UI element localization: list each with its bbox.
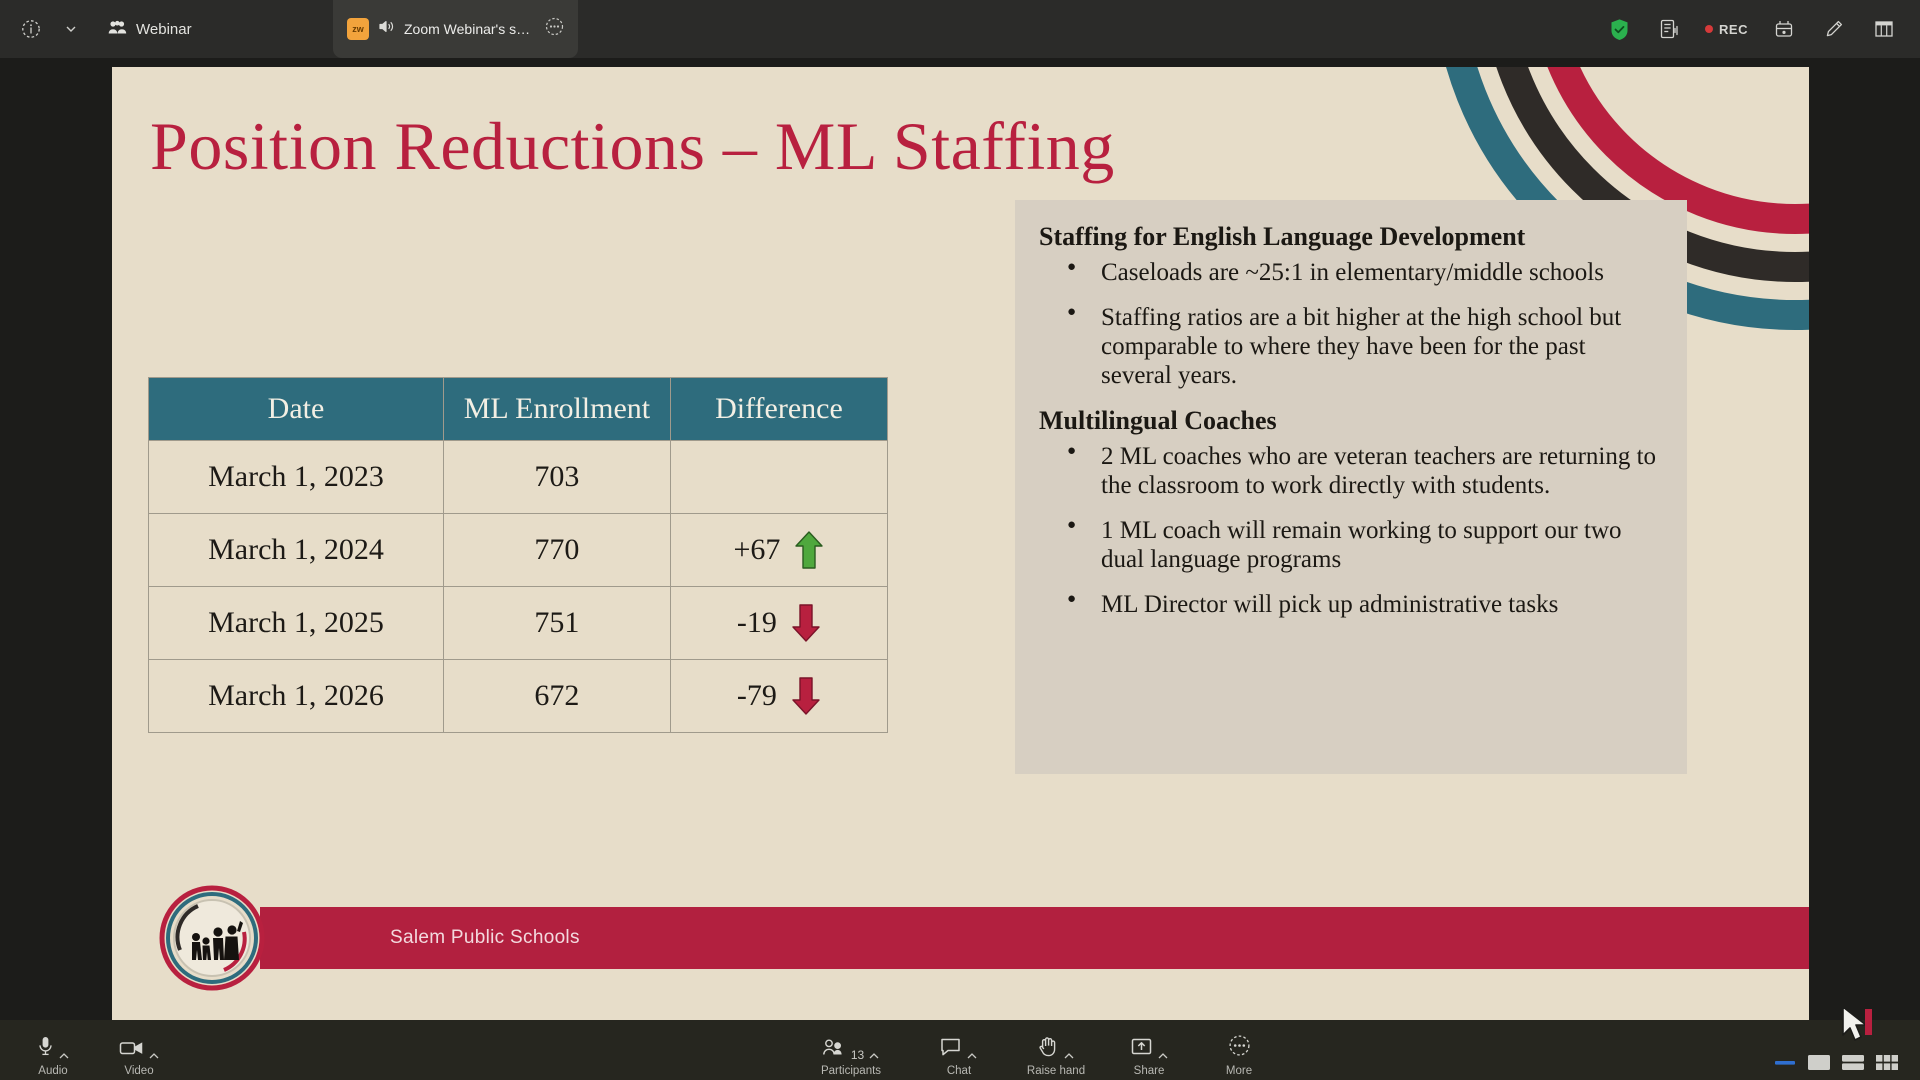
column-header-difference: Difference	[670, 378, 887, 441]
table-row: March 1, 2024 770 +67	[149, 514, 888, 587]
ellipsis-icon	[1228, 1034, 1251, 1062]
speaker-view-icon[interactable]	[1806, 1053, 1832, 1072]
shield-encryption-icon[interactable]	[1597, 9, 1641, 49]
table-row: March 1, 2025 751 -19	[149, 587, 888, 660]
microphone-icon	[37, 1035, 54, 1062]
minimize-view-icon[interactable]	[1772, 1053, 1798, 1072]
cell-difference	[670, 441, 887, 514]
zoom-app-icon: zw	[347, 18, 369, 40]
record-dot-icon	[1705, 25, 1713, 33]
screen-share-indicator[interactable]: zw Zoom Webinar's screen	[333, 0, 578, 58]
transcript-icon[interactable]	[1647, 9, 1691, 49]
zoom-top-bar: Webinar zw Zoom Webinar's screen	[0, 0, 1920, 58]
difference-value: -19	[737, 606, 777, 640]
participants-options-caret-icon[interactable]	[868, 1050, 880, 1062]
cell-enrollment: 770	[444, 514, 671, 587]
raise-hand-button[interactable]: Raise hand	[1002, 1036, 1110, 1077]
organization-name: Salem Public Schools	[390, 927, 580, 949]
audio-options-caret-icon[interactable]	[58, 1050, 70, 1062]
raise-hand-options-caret-icon[interactable]	[1063, 1050, 1075, 1062]
video-button[interactable]: Video	[96, 1036, 182, 1077]
participants-button[interactable]: 13 Participants	[796, 1036, 906, 1077]
side-by-side-view-icon[interactable]	[1840, 1053, 1866, 1072]
list-item: ML Director will pick up administrative …	[1039, 590, 1661, 619]
section-heading-staffing: Staffing for English Language Developmen…	[1039, 222, 1661, 252]
participants-count: 13	[851, 1048, 864, 1062]
presentation-slide: Position Reductions – ML Staffing Date M…	[112, 67, 1809, 1025]
presenter-cursor-icon	[1840, 1006, 1874, 1046]
cell-date: March 1, 2026	[149, 660, 444, 733]
cell-enrollment: 751	[444, 587, 671, 660]
webinar-label: Webinar	[136, 21, 192, 38]
section-heading-coaches: Multilingual Coaches	[1039, 406, 1661, 436]
participants-icon	[822, 1038, 845, 1062]
share-source-label: Zoom Webinar's screen	[404, 21, 536, 37]
arrow-down-icon	[791, 603, 821, 643]
cell-enrollment: 703	[444, 441, 671, 514]
coaches-bullet-list: 2 ML coaches who are veteran teachers ar…	[1039, 442, 1661, 619]
raised-hand-icon	[1038, 1035, 1059, 1062]
arrow-down-icon	[791, 676, 821, 716]
more-button[interactable]: More	[1196, 1036, 1282, 1077]
chat-label: Chat	[947, 1065, 971, 1077]
gallery-view-icon[interactable]	[1874, 1053, 1900, 1072]
cell-date: March 1, 2024	[149, 514, 444, 587]
speaker-icon	[378, 19, 395, 39]
video-options-caret-icon[interactable]	[148, 1050, 160, 1062]
cell-difference: +67	[670, 514, 887, 587]
video-label: Video	[124, 1065, 153, 1077]
camera-icon	[119, 1039, 144, 1062]
share-screen-icon	[1130, 1037, 1153, 1062]
share-options-caret-icon[interactable]	[1157, 1050, 1169, 1062]
chevron-down-icon[interactable]	[58, 10, 84, 48]
cell-difference: -79	[670, 660, 887, 733]
cell-difference: -19	[670, 587, 887, 660]
zoom-bottom-toolbar: Audio Video 13	[0, 1020, 1920, 1080]
table-body: March 1, 2023 703 March 1, 2024 770 +67	[149, 441, 888, 733]
column-header-date: Date	[149, 378, 444, 441]
table-row: March 1, 2026 672 -79	[149, 660, 888, 733]
difference-value: +67	[733, 533, 780, 567]
cell-enrollment: 672	[444, 660, 671, 733]
chat-button[interactable]: Chat	[916, 1036, 1002, 1077]
list-item: 1 ML coach will remain working to suppor…	[1039, 516, 1661, 574]
salem-public-schools-logo	[158, 884, 266, 992]
raise-hand-label: Raise hand	[1027, 1065, 1085, 1077]
ml-enrollment-table: Date ML Enrollment Difference March 1, 2…	[148, 377, 888, 733]
table-header-row: Date ML Enrollment Difference	[149, 378, 888, 441]
view-layout-buttons	[1772, 1053, 1900, 1072]
list-item: 2 ML coaches who are veteran teachers ar…	[1039, 442, 1661, 500]
recording-indicator[interactable]: REC	[1697, 9, 1756, 49]
difference-value: -79	[737, 679, 777, 713]
top-bar-right-controls: REC	[1597, 0, 1906, 58]
participants-icon	[108, 20, 127, 39]
info-icon[interactable]	[12, 10, 50, 48]
column-header-enrollment: ML Enrollment	[444, 378, 671, 441]
more-options-icon[interactable]	[545, 17, 564, 41]
page-title: Position Reductions – ML Staffing	[150, 107, 1115, 186]
pencil-annotate-icon[interactable]	[1812, 9, 1856, 49]
table-row: March 1, 2023 703	[149, 441, 888, 514]
view-layout-icon[interactable]	[1862, 9, 1906, 49]
cell-date: March 1, 2023	[149, 441, 444, 514]
shared-screen-stage: Position Reductions – ML Staffing Date M…	[0, 58, 1920, 1020]
audio-button[interactable]: Audio	[10, 1036, 96, 1077]
arrow-up-icon	[794, 530, 824, 570]
record-icon[interactable]	[1762, 9, 1806, 49]
slide-footer-bar: Salem Public Schools	[260, 907, 1809, 969]
staffing-notes-panel: Staffing for English Language Developmen…	[1015, 200, 1687, 774]
share-label: Share	[1134, 1065, 1165, 1077]
share-button[interactable]: Share	[1106, 1036, 1192, 1077]
audio-label: Audio	[38, 1065, 67, 1077]
participants-label: Participants	[821, 1065, 881, 1077]
cell-date: March 1, 2025	[149, 587, 444, 660]
chat-bubble-icon	[940, 1037, 962, 1062]
staffing-bullet-list: Caseloads are ~25:1 in elementary/middle…	[1039, 258, 1661, 390]
more-label: More	[1226, 1065, 1252, 1077]
list-item: Staffing ratios are a bit higher at the …	[1039, 303, 1661, 390]
rec-label: REC	[1719, 22, 1748, 37]
chat-options-caret-icon[interactable]	[966, 1050, 978, 1062]
webinar-indicator: Webinar	[108, 20, 192, 39]
list-item: Caseloads are ~25:1 in elementary/middle…	[1039, 258, 1661, 287]
